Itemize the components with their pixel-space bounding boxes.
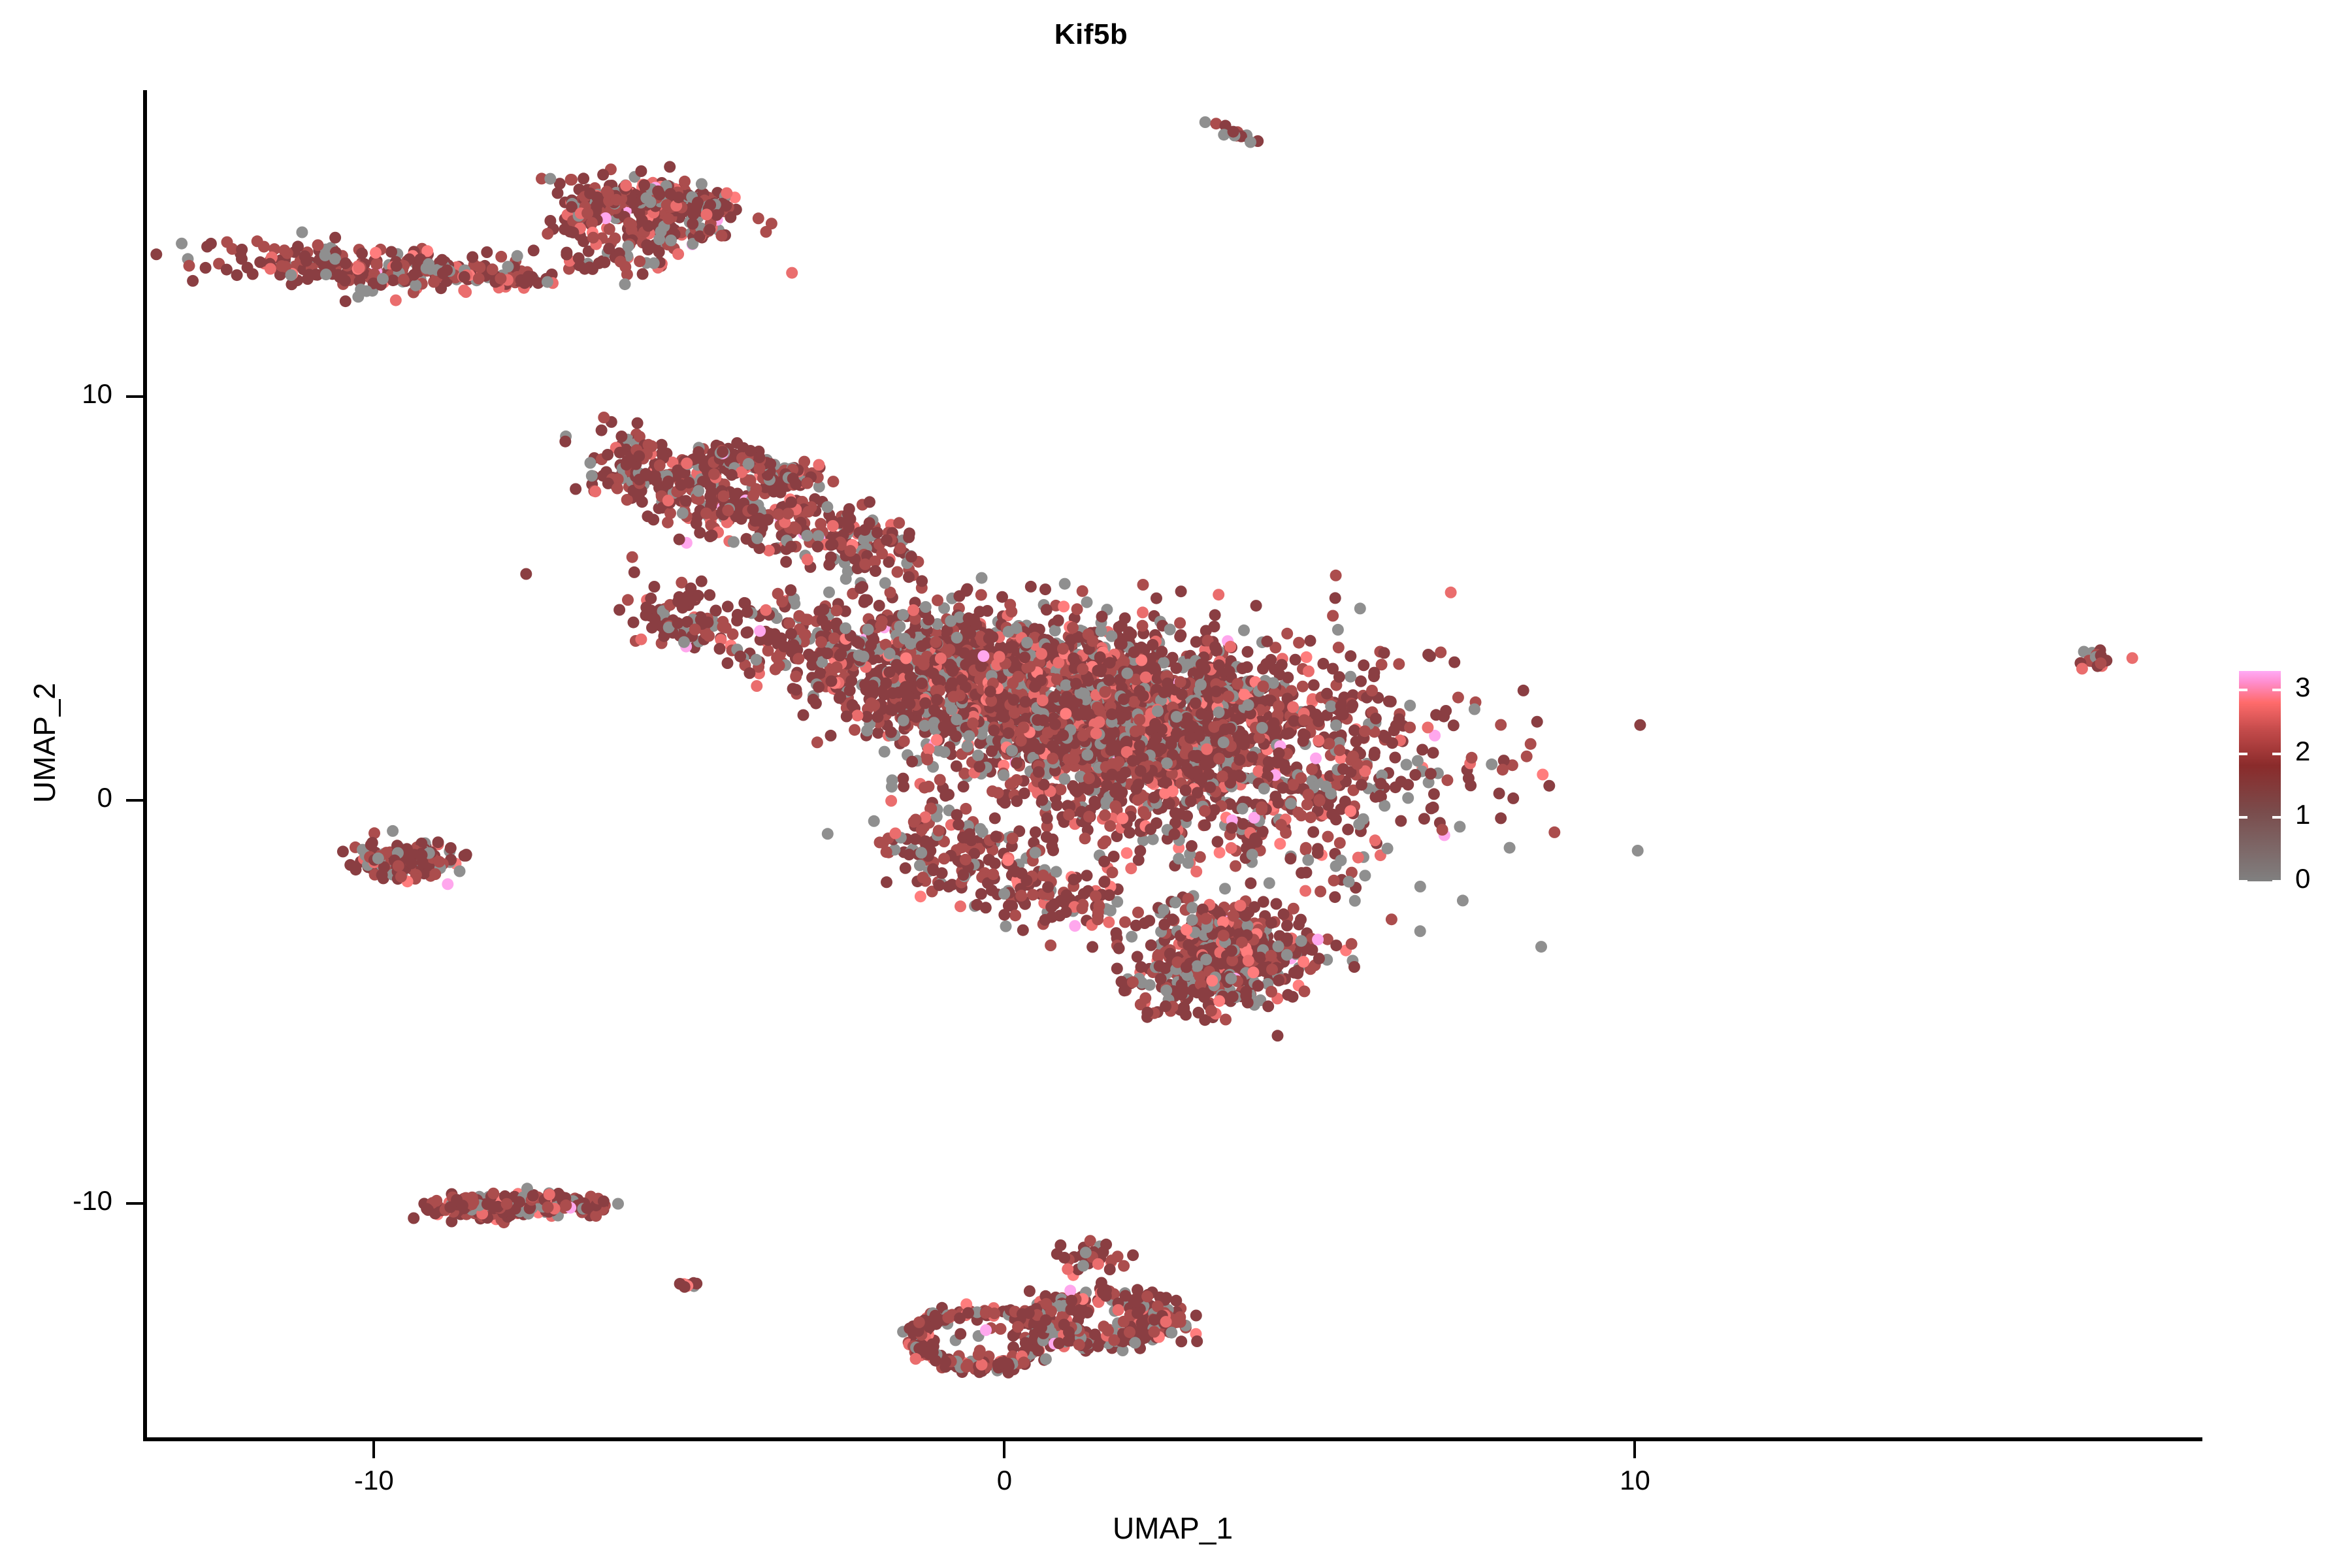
colorbar-tick-mark (2239, 880, 2247, 883)
y-tick-label: -10 (0, 1185, 112, 1217)
colorbar-tick-mark (2272, 753, 2281, 755)
colorbar-tick-mark (2272, 880, 2281, 883)
x-tick-label: 0 (939, 1465, 1070, 1496)
colorbar-tick-label: 0 (2295, 863, 2310, 894)
x-tick-mark (1003, 1441, 1005, 1458)
colorbar-legend[interactable]: 3210 (2239, 671, 2337, 883)
colorbar-tick-mark (2239, 816, 2247, 819)
y-tick-label: 10 (0, 378, 112, 410)
y-axis-line (143, 90, 147, 1441)
colorbar-tick-label: 1 (2295, 799, 2310, 830)
x-tick-mark (372, 1441, 375, 1458)
scatter-points-layer (147, 90, 2202, 1437)
colorbar-tick-mark (2239, 753, 2247, 755)
x-tick-label: 10 (1569, 1465, 1700, 1496)
umap-feature-plot: Kif5b -10010 -10010 UMAP_1 UMAP_2 3210 (0, 0, 2352, 1568)
x-axis-title: UMAP_1 (143, 1511, 2202, 1546)
plot-panel[interactable] (147, 90, 2202, 1437)
x-tick-mark (1633, 1441, 1636, 1458)
colorbar-tick-label: 2 (2295, 736, 2310, 767)
y-tick-mark (126, 1202, 143, 1205)
colorbar-tick-mark (2272, 689, 2281, 691)
colorbar-tick-label: 3 (2295, 672, 2310, 703)
y-axis-title: UMAP_2 (27, 547, 62, 939)
y-tick-mark (126, 799, 143, 802)
page-title: Kif5b (0, 18, 2182, 51)
x-axis-line (143, 1437, 2202, 1441)
colorbar-gradient (2239, 671, 2281, 881)
colorbar-tick-mark (2272, 816, 2281, 819)
y-tick-mark (126, 395, 143, 398)
colorbar-tick-mark (2239, 689, 2247, 691)
x-tick-label: -10 (308, 1465, 439, 1496)
